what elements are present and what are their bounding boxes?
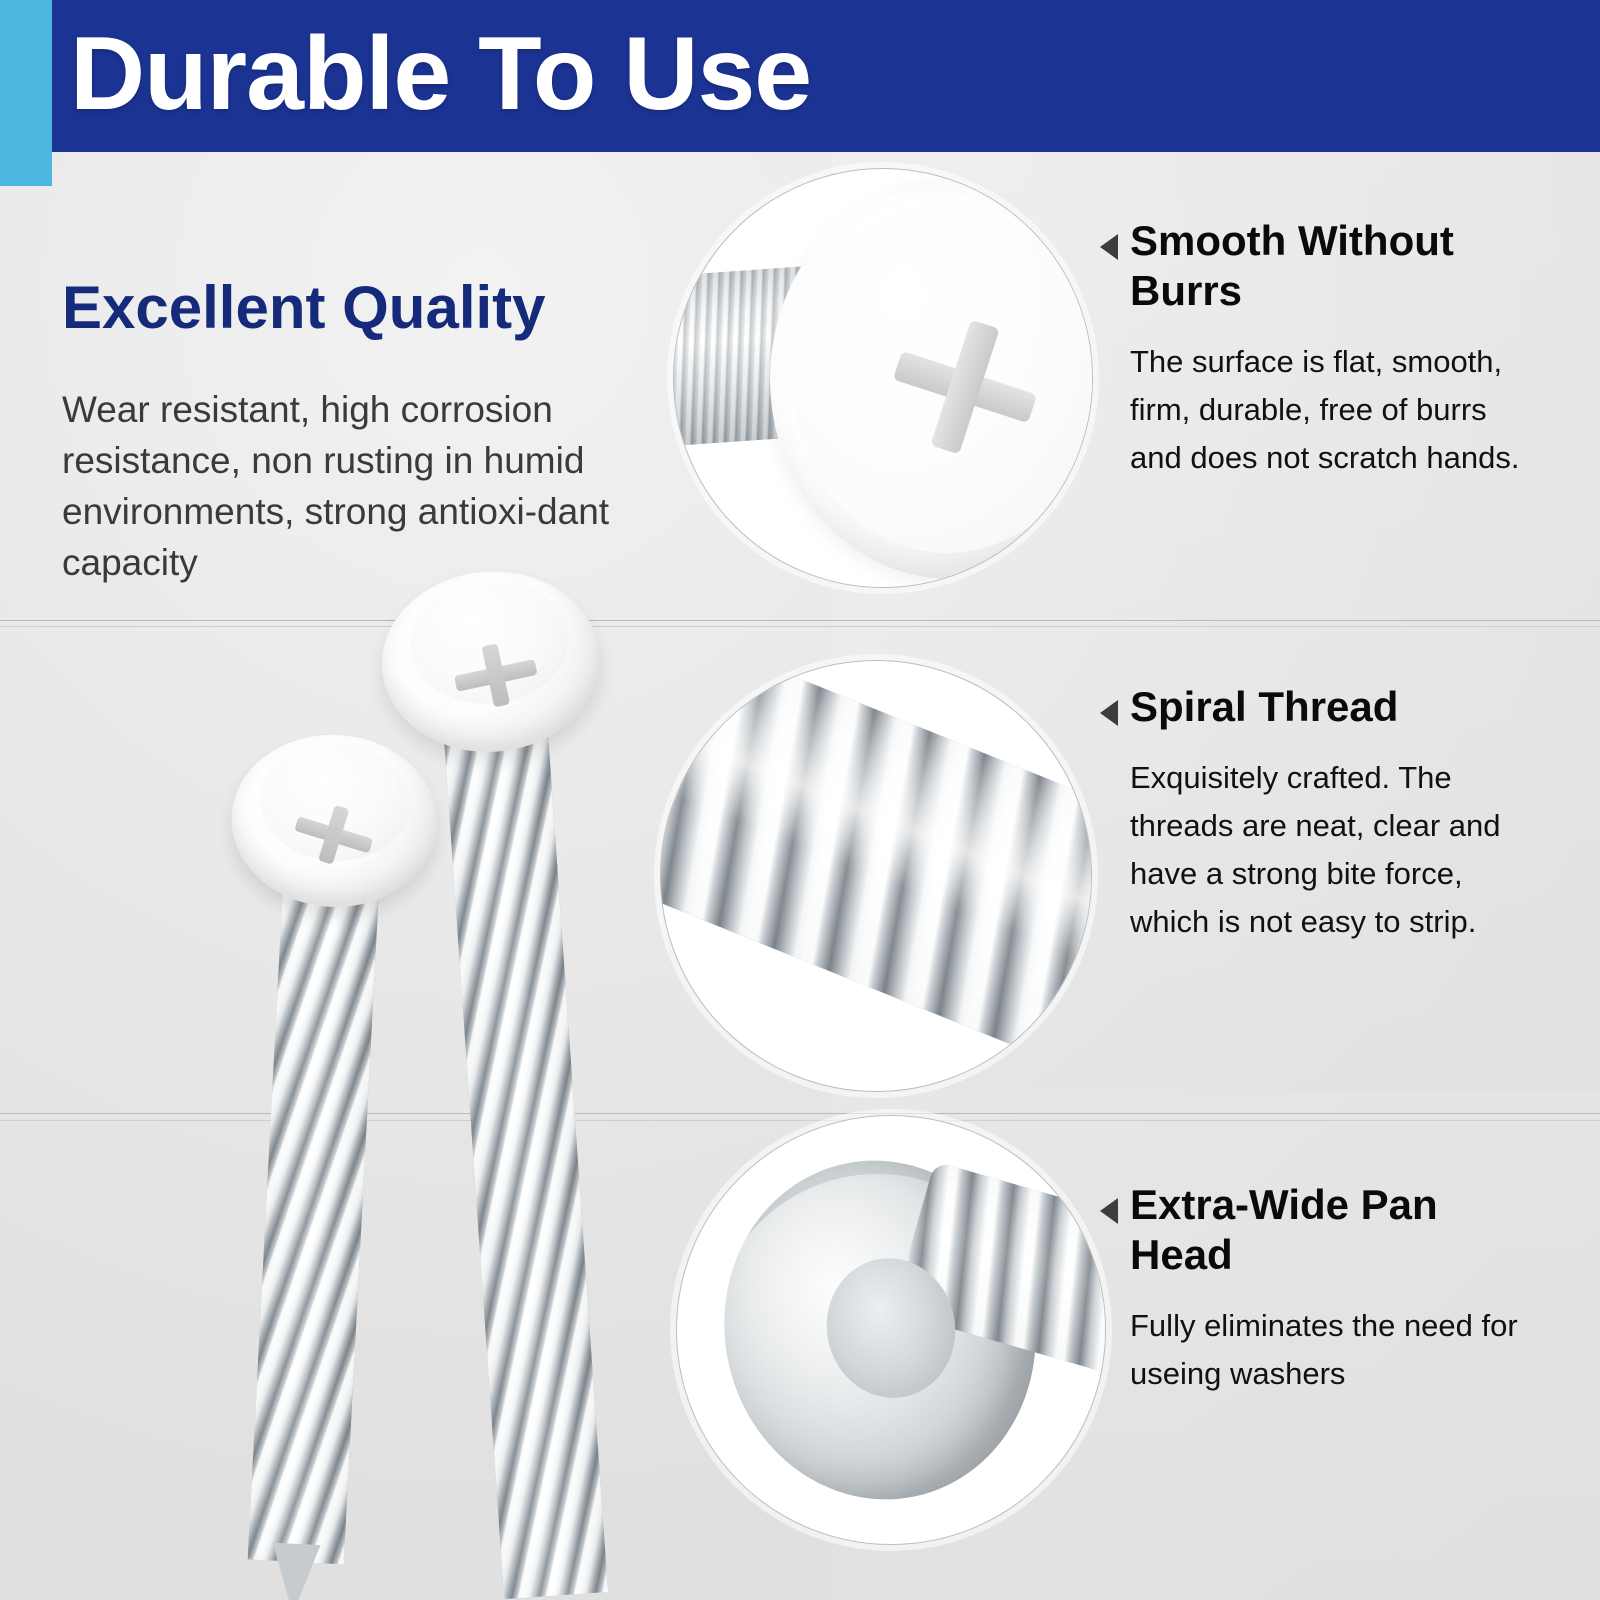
screw-left-phillips-icon — [290, 801, 377, 869]
circle2-highlight — [660, 660, 1092, 1070]
screw-left-shank — [248, 860, 381, 1564]
feature-image-spiral-thread — [660, 660, 1092, 1092]
screw-right-threads — [442, 704, 608, 1599]
feature-title-spiral-thread: Spiral Thread — [1130, 682, 1398, 732]
feature-description-smooth-without-burrs: The surface is flat, smooth, firm, durab… — [1130, 338, 1520, 482]
screw-right-phillips-icon — [450, 638, 543, 712]
header-accent-bar — [0, 0, 52, 186]
page-title: Durable To Use — [70, 18, 811, 130]
triangle-left-icon — [1100, 234, 1118, 260]
feature-title-smooth-without-burrs: Smooth Without Burrs — [1130, 216, 1520, 316]
triangle-left-icon — [1100, 700, 1118, 726]
feature-description-spiral-thread: Exquisitely crafted. The threads are nea… — [1130, 754, 1520, 946]
feature-callout-spiral-thread: Spiral Thread Exquisitely crafted. The t… — [1100, 682, 1520, 946]
feature-image-smooth-without-burrs — [673, 168, 1093, 588]
feature-title-extra-wide-pan-head: Extra-Wide Pan Head — [1130, 1180, 1520, 1280]
screw-left-tip — [269, 1543, 321, 1600]
screw-left-threads — [248, 860, 381, 1564]
left-section-heading: Excellent Quality — [62, 272, 546, 344]
circle1-phillips-icon — [890, 317, 1040, 457]
feature-callout-extra-wide-pan-head: Extra-Wide Pan Head Fully eliminates the… — [1100, 1180, 1520, 1398]
screw-right — [378, 543, 661, 1600]
infographic-page: Durable To Use Excellent Quality Wear re… — [0, 0, 1600, 1600]
hero-screws-image — [120, 540, 700, 1600]
triangle-left-icon — [1100, 1198, 1118, 1224]
screw-right-shank — [442, 704, 608, 1599]
feature-image-extra-wide-pan-head — [676, 1115, 1106, 1545]
feature-description-extra-wide-pan-head: Fully eliminates the need for useing was… — [1130, 1302, 1520, 1398]
feature-callout-smooth-without-burrs: Smooth Without Burrs The surface is flat… — [1100, 216, 1520, 482]
